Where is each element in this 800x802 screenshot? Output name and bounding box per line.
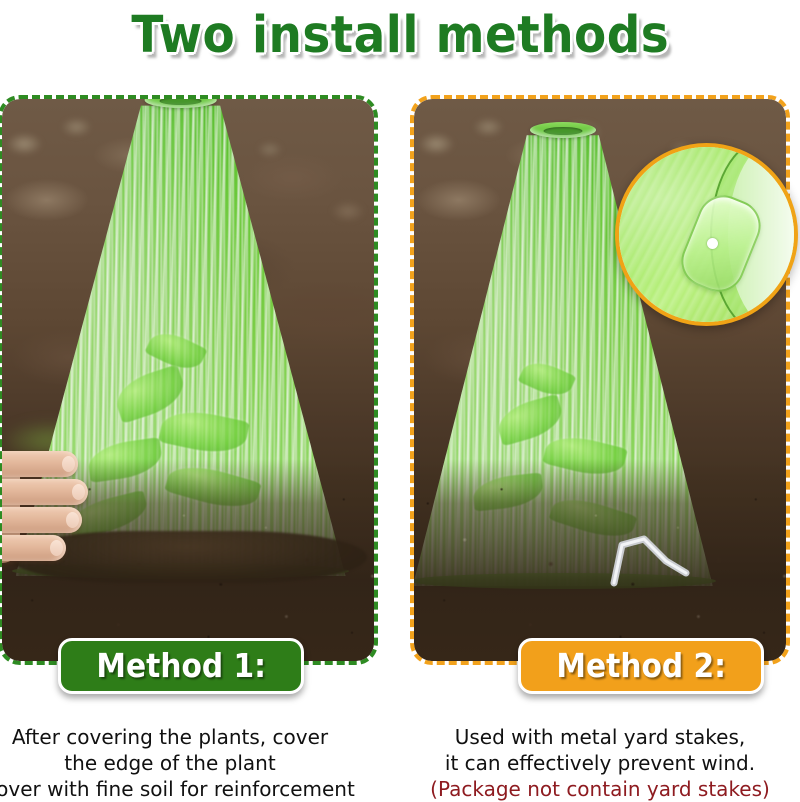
foreground-soil xyxy=(414,459,786,661)
hand-pressing-soil xyxy=(2,449,94,569)
page-title: Two install methods xyxy=(131,10,669,62)
finger xyxy=(2,507,82,533)
method-2-caption: Used with metal yard stakes, it can effe… xyxy=(400,724,800,802)
caption-note: (Package not contain yard stakes) xyxy=(400,776,800,802)
metal-yard-stake-icon xyxy=(604,521,714,591)
method-1-badge: Method 1: xyxy=(58,638,304,694)
method-1-caption: After covering the plants, cover the edg… xyxy=(0,724,370,802)
caption-line: Used with metal yard stakes, xyxy=(400,724,800,750)
caption-line: it can effectively prevent wind. xyxy=(400,750,800,776)
caption-line: the edge of the plant xyxy=(0,750,370,776)
method-2-badge: Method 2: xyxy=(518,638,764,694)
finger xyxy=(2,451,78,477)
header: Two install methods xyxy=(0,0,800,72)
finger xyxy=(2,479,88,505)
cone-vent-hole xyxy=(543,127,582,135)
inset-closeup-image xyxy=(619,147,794,322)
method-1-image xyxy=(2,99,374,661)
magnifier-inset xyxy=(615,143,798,326)
finger xyxy=(2,535,66,561)
caption-line: cover with fine soil for reinforcement xyxy=(0,776,370,802)
method-2-badge-label: Method 2: xyxy=(556,649,726,683)
method-1-panel xyxy=(0,95,378,665)
method-1-badge-label: Method 1: xyxy=(96,649,266,683)
inset-stake-hole xyxy=(707,238,718,249)
caption-line: After covering the plants, cover xyxy=(0,724,370,750)
